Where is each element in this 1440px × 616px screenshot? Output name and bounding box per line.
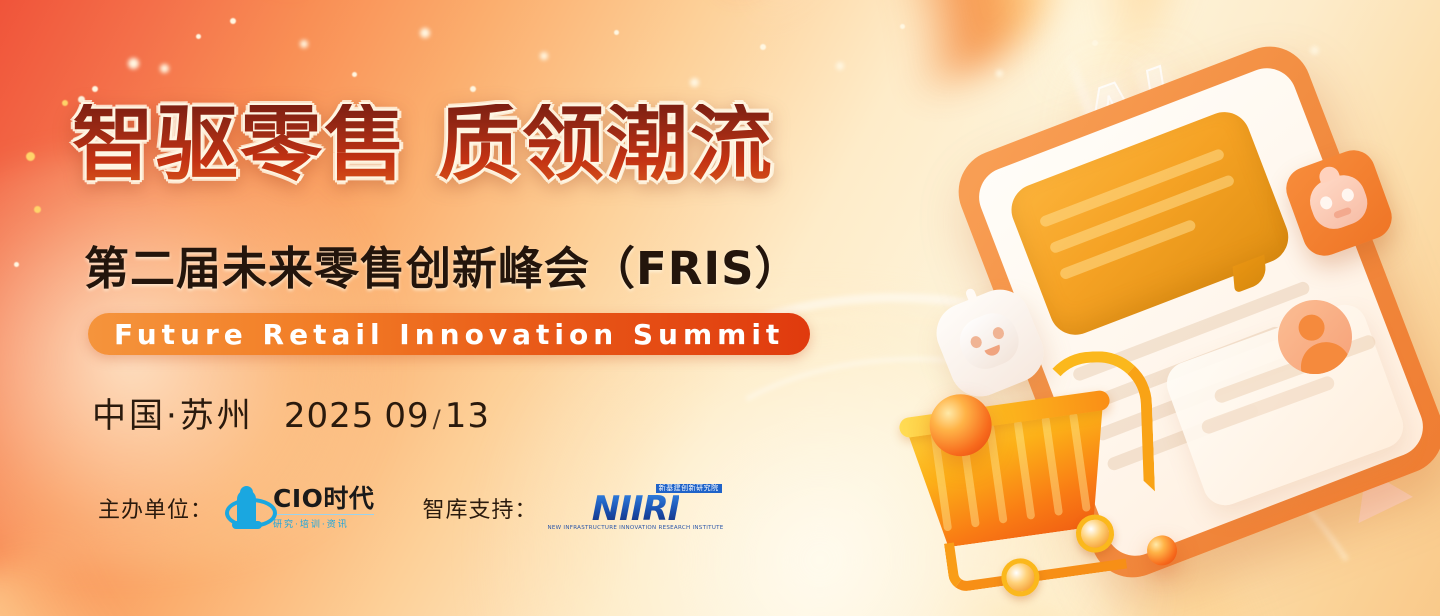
robot-badge-face <box>953 306 1026 376</box>
hero-illustration: AI <box>880 0 1440 616</box>
event-location: 中国·苏州 <box>92 388 254 437</box>
shopping-cart-icon <box>894 353 1182 607</box>
event-meta: 中国·苏州 2025 09 / 13 <box>92 388 490 437</box>
robot-eye-left <box>1318 195 1334 211</box>
cart-slot <box>1041 416 1063 516</box>
thinktank-label: 智库支持： <box>422 492 537 524</box>
robot-mouth <box>1333 206 1352 219</box>
organizer-group: 主办单位： CIO时代 研究·培训·资讯 <box>98 486 374 530</box>
bubble-text-line <box>1059 219 1197 281</box>
thinktank-group: 智库支持： 新基建创新研究院 NIIRI NEW INFRASTRUCTURE … <box>422 484 723 532</box>
headline-part-1: 智驱零售 <box>72 97 408 192</box>
sphere-small <box>1145 533 1179 567</box>
robot-badge-eye-right <box>991 326 1006 341</box>
cio-logo: CIO时代 研究·培训·资讯 <box>225 486 374 530</box>
cio-base <box>232 521 262 529</box>
cart-slot <box>1014 420 1036 520</box>
date-separator: / <box>433 405 442 433</box>
robot-face <box>1304 169 1374 235</box>
date-month: 09 <box>384 396 429 436</box>
event-subtitle-en: Future Retail Innovation Summit <box>114 318 784 351</box>
cio-person-icon <box>225 486 269 530</box>
event-subtitle-cn: 第二届未来零售创新峰会（FRIS） <box>84 232 801 297</box>
organizer-label: 主办单位： <box>98 492 213 524</box>
niiri-logo-tagline: NEW INFRASTRUCTURE INNOVATION RESEARCH I… <box>547 525 723 532</box>
cio-logo-tagline: 研究·培训·资讯 <box>273 514 374 530</box>
event-subtitle-en-pill: Future Retail Innovation Summit <box>88 313 810 355</box>
cart-slot <box>986 424 1008 524</box>
sponsor-row: 主办单位： CIO时代 研究·培训·资讯 智库支持： <box>98 484 724 532</box>
cio-logo-text-cn: 时代 <box>323 484 374 513</box>
cart-slot <box>1069 412 1091 512</box>
robot-badge-eye-left <box>969 334 984 349</box>
date-day: 13 <box>445 396 490 436</box>
page-title: 智驱零售质领潮流 <box>72 104 774 186</box>
niiri-logo-text: NIIRI <box>592 493 680 525</box>
banner-content: 智驱零售质领潮流 第二届未来零售创新峰会（FRIS） Future Retail… <box>0 0 900 616</box>
robot-badge-mouth <box>984 345 1002 358</box>
event-date: 2025 09 / 13 <box>284 396 490 436</box>
robot-eye-right <box>1340 187 1356 203</box>
cio-wordmark: CIO时代 研究·培训·资讯 <box>273 486 374 530</box>
event-banner: AI <box>0 0 1440 616</box>
headline-part-2: 质领潮流 <box>438 97 774 192</box>
niiri-logo: 新基建创新研究院 NIIRI NEW INFRASTRUCTURE INNOVA… <box>547 484 723 532</box>
avatar-head <box>1295 311 1328 344</box>
robot-antenna <box>965 287 979 303</box>
cio-logo-text: CIO时代 <box>273 486 374 511</box>
cio-logo-text-en: CIO <box>273 484 323 513</box>
date-year: 2025 <box>284 396 375 436</box>
